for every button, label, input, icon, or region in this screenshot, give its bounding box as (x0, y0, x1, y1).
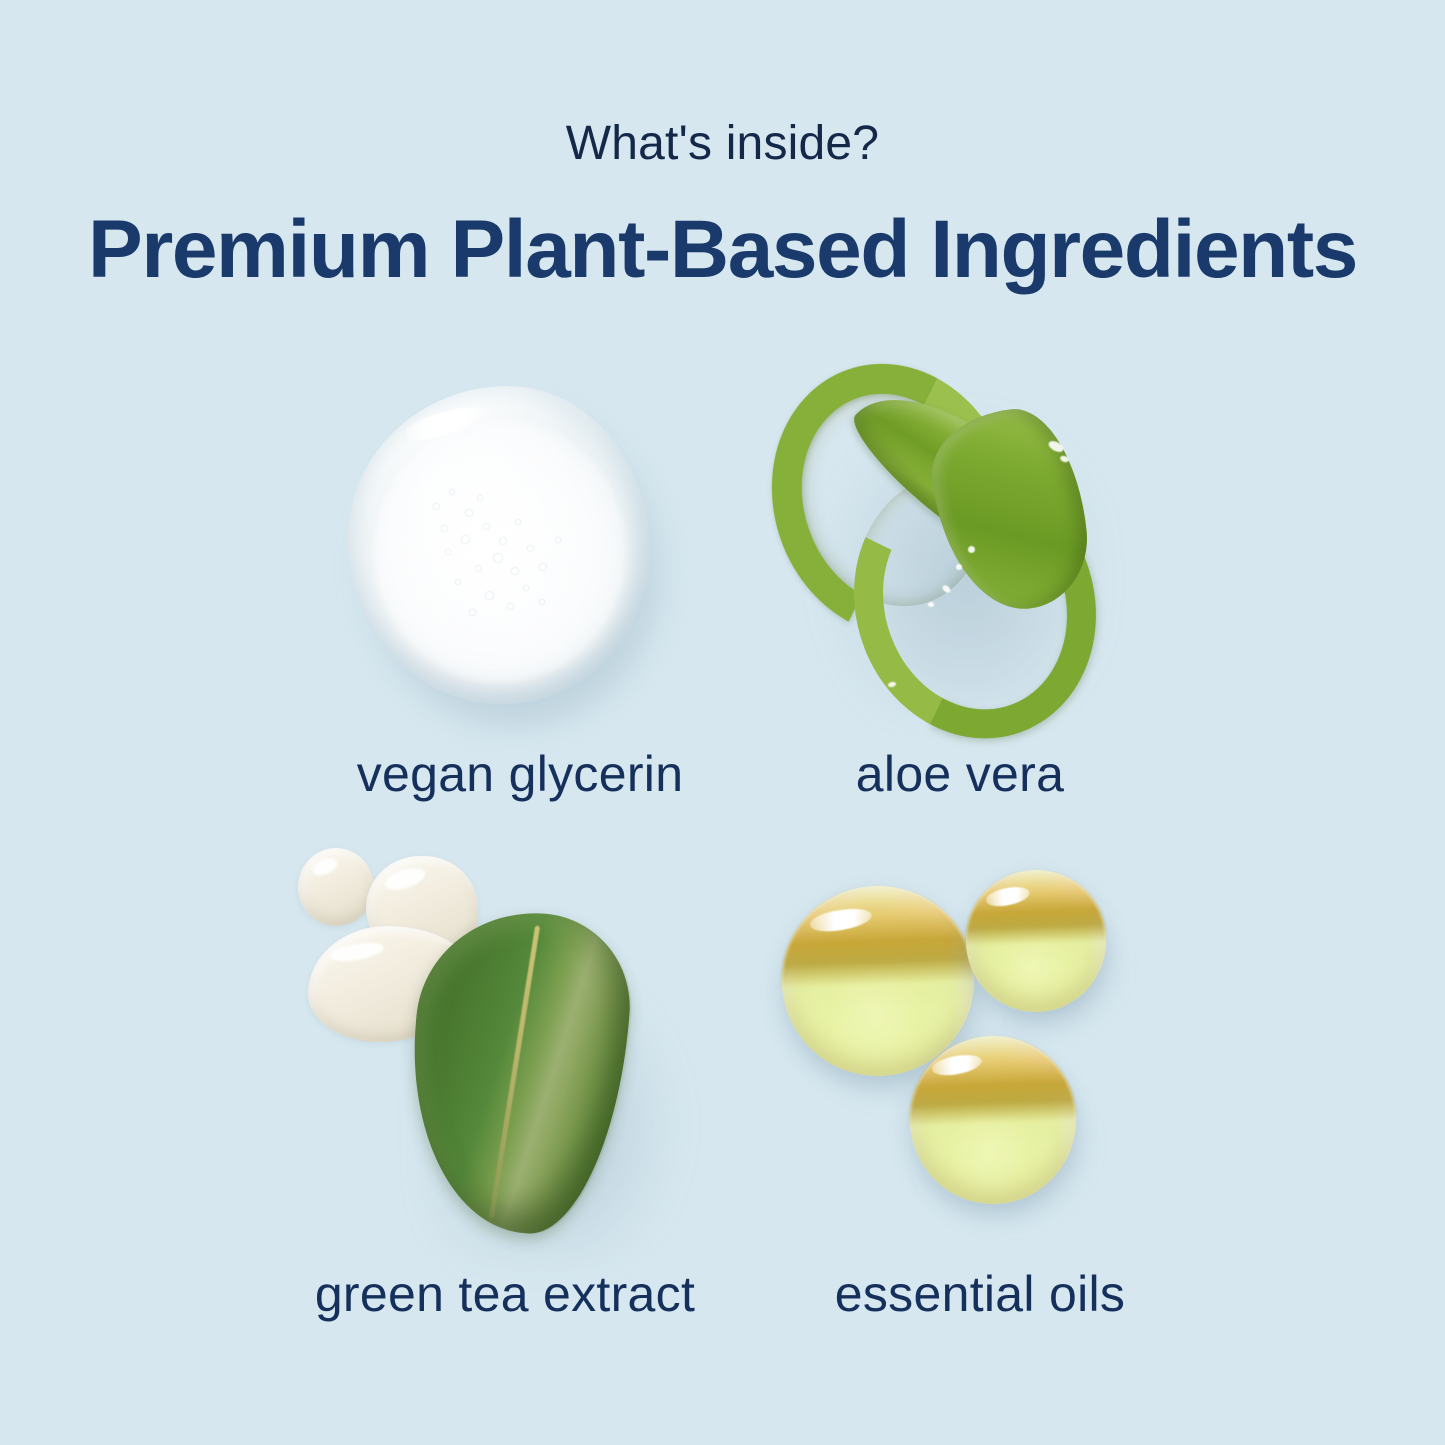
glycerin-gel-drop-icon (300, 360, 740, 760)
oil-droplets-icon (760, 860, 1160, 1250)
aloe-gloss-6 (928, 602, 934, 607)
oil-droplet-2-band (966, 870, 1106, 1012)
ingredient-label-aloe-vera: aloe vera (760, 745, 1160, 803)
oil-droplet-3-band (910, 1036, 1076, 1204)
header: What's inside? Premium Plant-Based Ingre… (0, 0, 1445, 293)
ingredient-grid: vegan glycerin aloe vera (0, 350, 1445, 1390)
ingredient-label-vegan-glycerin: vegan glycerin (230, 745, 810, 803)
ingredient-item-aloe-vera (760, 350, 1160, 760)
ingredient-label-essential-oils: essential oils (740, 1265, 1220, 1323)
aloe-leaf-strips-icon (760, 350, 1160, 760)
ingredient-item-green-tea-extract (280, 840, 720, 1250)
aloe-gloss-3 (968, 546, 975, 553)
oil-droplet-1-band (782, 886, 974, 1076)
eyebrow-text: What's inside? (0, 118, 1445, 171)
ingredient-item-essential-oils (760, 860, 1160, 1250)
ingredient-item-vegan-glycerin (300, 360, 740, 760)
green-tea-leaf-icon (280, 840, 720, 1250)
page-title: Premium Plant-Based Ingredients (0, 207, 1445, 293)
aloe-gloss-4 (956, 564, 962, 570)
glycerin-bubbles (420, 480, 600, 640)
ingredient-label-green-tea-extract: green tea extract (210, 1265, 800, 1323)
